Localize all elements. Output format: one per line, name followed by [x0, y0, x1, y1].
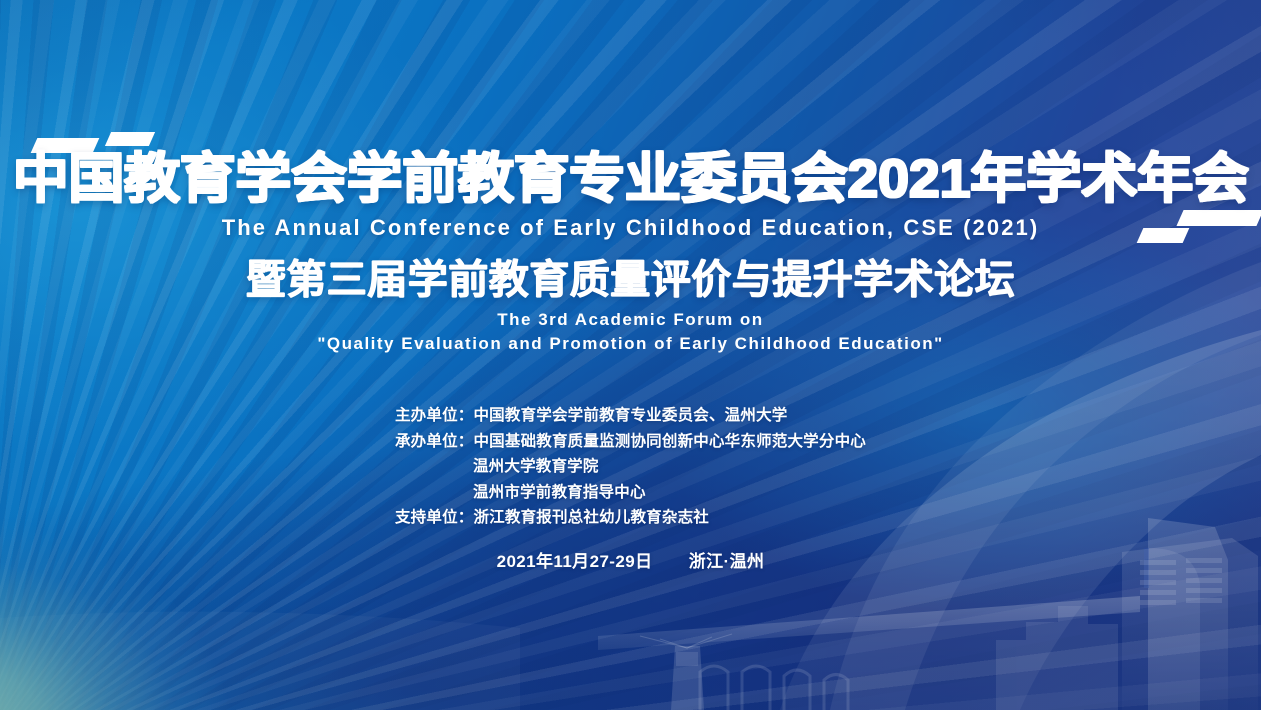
organizer-line: 温州市学前教育指导中心	[395, 480, 866, 506]
organizer-list: 主办单位：中国教育学会学前教育专业委员会、温州大学 承办单位：中国基础教育质量监…	[395, 403, 866, 531]
subtitle-chinese: 暨第三届学前教育质量评价与提升学术论坛	[0, 256, 1261, 304]
page-title: 中国教育学会学前教育专业委员会2021年学术年会	[0, 150, 1261, 208]
event-location: 浙江·温州	[689, 552, 765, 571]
banner-content: 中国教育学会学前教育专业委员会2021年学术年会 The Annual Conf…	[0, 0, 1261, 710]
conference-banner: 中国教育学会学前教育专业委员会2021年学术年会 The Annual Conf…	[0, 0, 1261, 710]
subtitle-english-line2: "Quality Evaluation and Promotion of Ear…	[0, 332, 1261, 356]
organizer-line: 温州大学教育学院	[395, 454, 866, 480]
organizer-line: 承办单位：中国基础教育质量监测协同创新中心华东师范大学分中心	[395, 429, 866, 455]
organizer-line: 支持单位：浙江教育报刊总社幼儿教育杂志社	[395, 505, 866, 531]
organizer-block: 主办单位：中国教育学会学前教育专业委员会、温州大学 承办单位：中国基础教育质量监…	[0, 403, 1261, 531]
title-english: The Annual Conference of Early Childhood…	[0, 214, 1261, 242]
organizer-line: 主办单位：中国教育学会学前教育专业委员会、温州大学	[395, 403, 866, 429]
subtitle-english-line1: The 3rd Academic Forum on	[0, 308, 1261, 332]
date-location-bar: 2021年11月27-29日 浙江·温州	[0, 549, 1261, 575]
subtitle-english: The 3rd Academic Forum on "Quality Evalu…	[0, 308, 1261, 356]
event-date: 2021年11月27-29日	[497, 552, 653, 571]
